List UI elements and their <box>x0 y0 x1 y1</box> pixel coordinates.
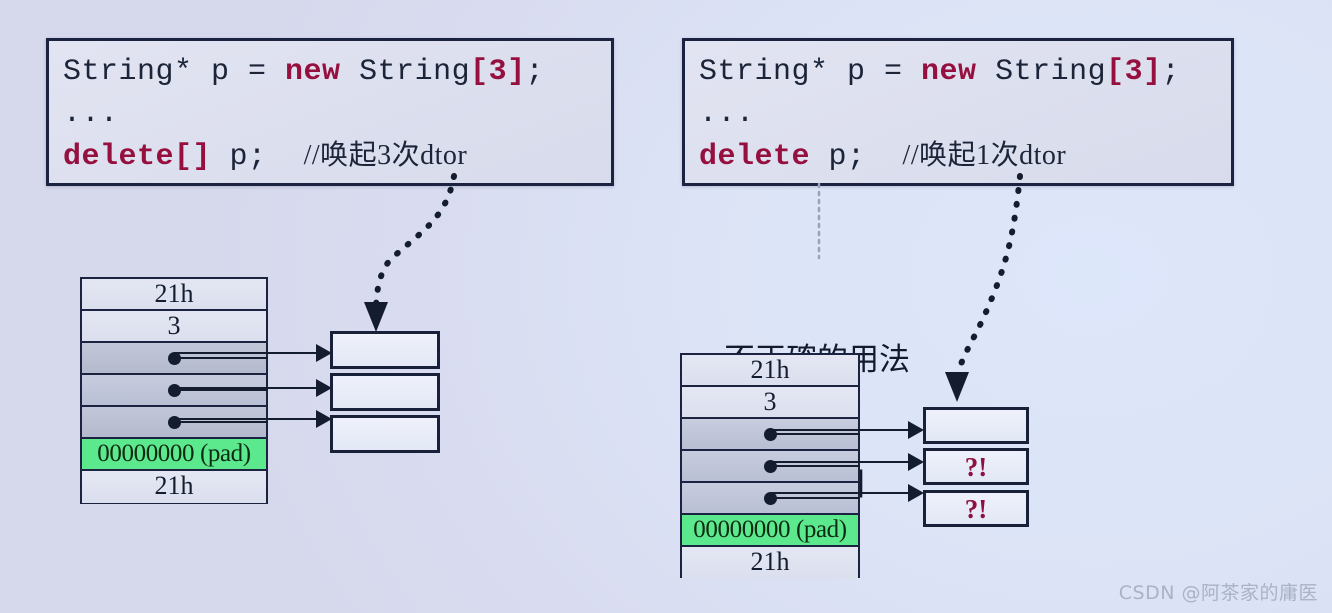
left-code-line1-type: String <box>341 55 471 89</box>
right-code-comment: //唤起1次dtor <box>903 140 1067 171</box>
right-target-box-2-label: ?! <box>926 451 1026 483</box>
memory-row-cookie-bottom: 21h <box>82 471 266 503</box>
memory-row-pointer-3 <box>682 483 858 515</box>
memory-row-pad: 00000000 (pad) <box>82 439 266 471</box>
right-code-line-3: delete p; //唤起1次dtor <box>699 135 1217 178</box>
pointer-stem <box>770 433 860 435</box>
right-target-box-3-label: ?! <box>926 493 1026 525</box>
memory-row-cookie-top: 21h <box>82 279 266 311</box>
left-code-box: String* p = new String[3]; ... delete[] … <box>46 38 614 186</box>
left-code-line1-brackets: [3] <box>470 55 526 89</box>
right-code-keyword-new: new <box>921 55 977 89</box>
left-dotted-callout-arrow <box>350 172 480 337</box>
right-code-keyword-delete: delete <box>699 140 810 174</box>
right-annotation-leader-line <box>806 184 836 264</box>
right-target-box-3: ?! <box>923 490 1029 527</box>
right-code-line1-prefix: String* p = <box>699 55 921 89</box>
left-target-box-3 <box>330 415 440 453</box>
left-target-box-2 <box>330 373 440 411</box>
right-code-line1-brackets: [3] <box>1106 55 1162 89</box>
memory-row-pointer-1 <box>682 419 858 451</box>
right-connector-3 <box>770 492 918 494</box>
memory-row-count: 3 <box>682 387 858 419</box>
right-code-line1-suffix: ; <box>1162 55 1181 89</box>
left-memory-block: 21h 3 00000000 (pad) 21h <box>80 277 268 504</box>
left-code-keyword-delete: delete <box>63 140 174 174</box>
left-connector-3 <box>174 418 324 420</box>
pointer-stem <box>770 465 860 467</box>
pointer-stem <box>174 357 268 359</box>
slide-canvas: String* p = new String[3]; ... delete[] … <box>0 0 1332 613</box>
memory-row-count: 3 <box>82 311 266 343</box>
left-connector-2 <box>174 387 324 389</box>
right-connector-1 <box>770 429 918 431</box>
left-code-keyword-new: new <box>285 55 341 89</box>
left-code-line3-brackets: [] <box>174 140 211 174</box>
right-connector-2-arrowhead <box>908 453 924 471</box>
right-target-box-1 <box>923 407 1029 444</box>
right-connector-2 <box>770 461 918 463</box>
left-connector-1 <box>174 352 324 354</box>
right-code-line-1: String* p = new String[3]; <box>699 51 1217 93</box>
pointer-stem <box>174 421 268 423</box>
right-connector-3-arrowhead <box>908 484 924 502</box>
csdn-watermark: CSDN @阿茶家的庸医 <box>1119 578 1318 605</box>
left-code-line-1: String* p = new String[3]; <box>63 51 597 93</box>
right-code-line3-var: p; <box>810 140 903 174</box>
memory-row-cookie-top: 21h <box>682 355 858 387</box>
left-code-line1-prefix: String* p = <box>63 55 285 89</box>
memory-row-pointer-1 <box>82 343 266 375</box>
pointer-stem <box>174 389 268 391</box>
pointer-stem <box>770 497 860 499</box>
right-memory-block: 21h 3 00000000 (pad) 21h <box>680 353 860 578</box>
memory-row-pointer-2 <box>82 375 266 407</box>
right-code-line1-type: String <box>977 55 1107 89</box>
right-target-box-2: ?! <box>923 448 1029 485</box>
memory-row-pointer-3 <box>82 407 266 439</box>
left-code-line-3: delete[] p; //唤起3次dtor <box>63 135 597 178</box>
right-code-line-2: ... <box>699 93 1217 135</box>
left-code-line-2: ... <box>63 93 597 135</box>
right-code-box: String* p = new String[3]; ... delete p;… <box>682 38 1234 186</box>
left-code-line3-var: p; <box>211 140 304 174</box>
left-target-box-1 <box>330 331 440 369</box>
memory-row-pad: 00000000 (pad) <box>682 515 858 547</box>
right-connector-1-arrowhead <box>908 421 924 439</box>
left-code-line1-suffix: ; <box>526 55 545 89</box>
left-code-comment: //唤起3次dtor <box>304 140 468 171</box>
memory-row-pointer-2 <box>682 451 858 483</box>
memory-row-cookie-bottom: 21h <box>682 547 858 579</box>
